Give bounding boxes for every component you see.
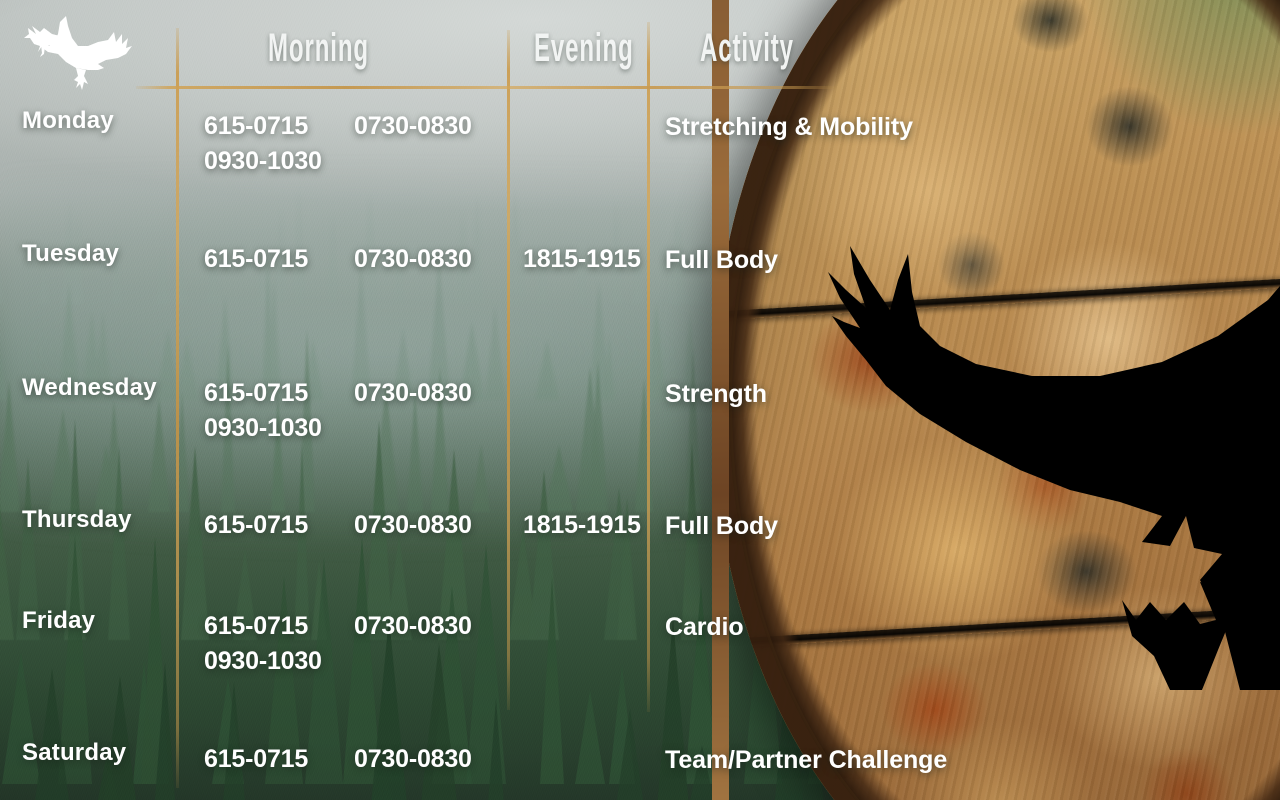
day-label: Thursday bbox=[22, 506, 132, 533]
time-value: 0930-1030 bbox=[204, 647, 322, 675]
morning-slot-3: 0930-1030 bbox=[204, 414, 322, 443]
morning-slot-1: 615-0715 bbox=[204, 511, 308, 540]
day-label: Wednesday bbox=[22, 374, 157, 401]
activity-value: Full Body bbox=[665, 512, 778, 540]
table-row-day: Monday bbox=[22, 107, 114, 135]
time-value: 0930-1030 bbox=[204, 414, 322, 442]
table-row-day: Friday bbox=[22, 607, 95, 635]
eagle-bird-silhouette-icon bbox=[14, 12, 140, 94]
morning-slot-1: 615-0715 bbox=[204, 612, 308, 641]
table-row-day: Saturday bbox=[22, 739, 126, 767]
table-row-day: Wednesday bbox=[22, 374, 157, 402]
column-header-activity-label: Activity bbox=[700, 26, 794, 70]
morning-slot-3: 0930-1030 bbox=[204, 147, 322, 176]
day-label: Saturday bbox=[22, 739, 126, 766]
time-value: 0730-0830 bbox=[354, 612, 472, 640]
table-row-day: Thursday bbox=[22, 506, 132, 534]
time-value: 0930-1030 bbox=[204, 147, 322, 175]
time-value: 0730-0830 bbox=[354, 245, 472, 273]
evening-slot: 1815-1915 bbox=[523, 245, 641, 274]
activity-value: Strength bbox=[665, 380, 767, 408]
activity-value: Full Body bbox=[665, 246, 778, 274]
activity-value: Cardio bbox=[665, 613, 744, 641]
column-header-morning-label: Morning bbox=[268, 26, 369, 70]
morning-slot-2: 0730-0830 bbox=[354, 745, 472, 774]
time-value: 615-0715 bbox=[204, 612, 308, 640]
morning-slot-1: 615-0715 bbox=[204, 112, 308, 141]
day-label: Tuesday bbox=[22, 240, 119, 267]
evening-slot: 1815-1915 bbox=[523, 511, 641, 540]
vignette bbox=[0, 0, 1280, 800]
morning-slot-1: 615-0715 bbox=[204, 245, 308, 274]
table-row-day: Tuesday bbox=[22, 240, 119, 268]
time-value: 0730-0830 bbox=[354, 745, 472, 773]
column-header-evening: Evening bbox=[534, 28, 634, 68]
column-divider-evening bbox=[507, 30, 510, 710]
day-label: Monday bbox=[22, 107, 114, 134]
activity-label: Cardio bbox=[665, 613, 744, 642]
column-header-activity: Activity bbox=[700, 28, 794, 68]
morning-slot-2: 0730-0830 bbox=[354, 612, 472, 641]
activity-label: Full Body bbox=[665, 512, 778, 541]
time-value: 615-0715 bbox=[204, 745, 308, 773]
activity-label: Full Body bbox=[665, 246, 778, 275]
morning-slot-1: 615-0715 bbox=[204, 745, 308, 774]
column-header-evening-label: Evening bbox=[534, 26, 634, 70]
forest-background bbox=[0, 0, 1280, 800]
activity-label: Team/Partner Challenge bbox=[665, 746, 947, 775]
time-value: 615-0715 bbox=[204, 112, 308, 140]
time-value: 615-0715 bbox=[204, 511, 308, 539]
activity-value: Stretching & Mobility bbox=[665, 113, 913, 141]
column-divider-activity bbox=[647, 22, 650, 712]
time-value: 0730-0830 bbox=[354, 112, 472, 140]
column-header-morning: Morning bbox=[268, 28, 369, 68]
time-value: 615-0715 bbox=[204, 379, 308, 407]
morning-slot-2: 0730-0830 bbox=[354, 379, 472, 408]
time-value: 1815-1915 bbox=[523, 245, 641, 273]
time-value: 615-0715 bbox=[204, 245, 308, 273]
time-value: 0730-0830 bbox=[354, 511, 472, 539]
activity-label: Strength bbox=[665, 380, 767, 409]
morning-slot-2: 0730-0830 bbox=[354, 245, 472, 274]
activity-value: Team/Partner Challenge bbox=[665, 746, 947, 774]
header-underline bbox=[136, 86, 836, 89]
morning-slot-2: 0730-0830 bbox=[354, 511, 472, 540]
column-divider-day bbox=[176, 28, 179, 788]
time-value: 0730-0830 bbox=[354, 379, 472, 407]
activity-label: Stretching & Mobility bbox=[665, 113, 913, 142]
time-value: 1815-1915 bbox=[523, 511, 641, 539]
morning-slot-3: 0930-1030 bbox=[204, 647, 322, 676]
morning-slot-1: 615-0715 bbox=[204, 379, 308, 408]
day-label: Friday bbox=[22, 607, 95, 634]
schedule-poster: Morning Evening Activity Monday 615-0715… bbox=[0, 0, 1280, 800]
morning-slot-2: 0730-0830 bbox=[354, 112, 472, 141]
